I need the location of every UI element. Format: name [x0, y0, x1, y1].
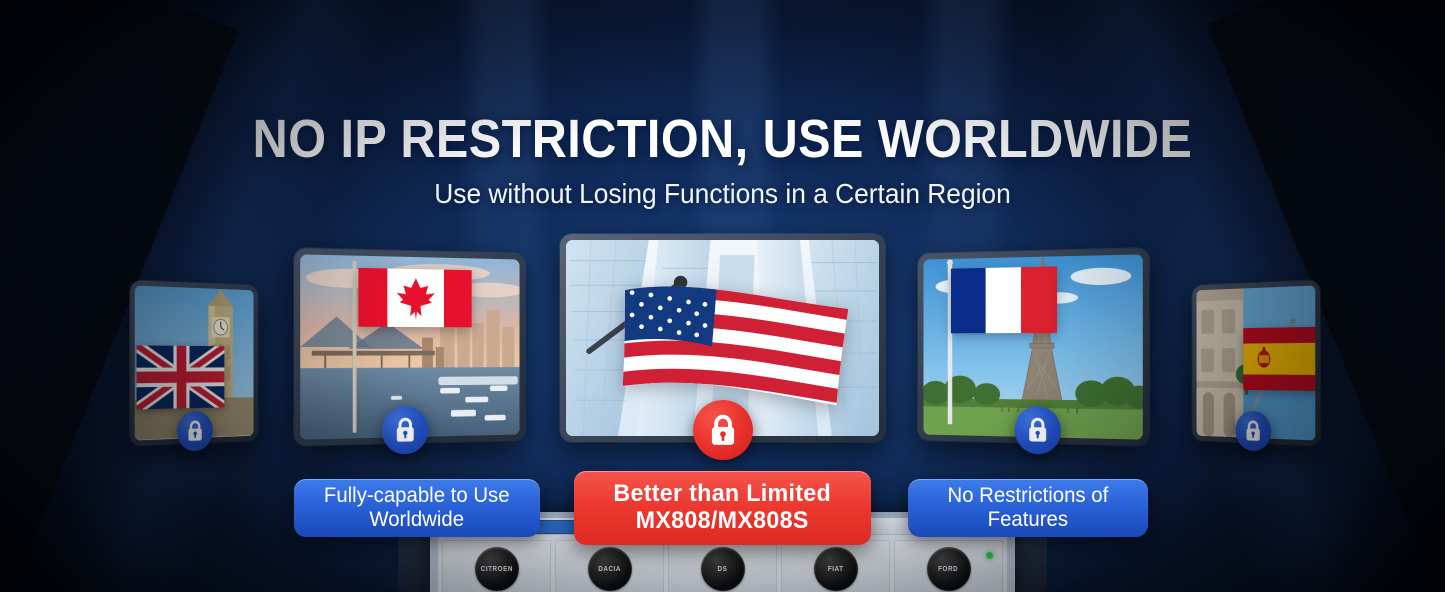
lock-icon — [1244, 420, 1262, 443]
flag-card-canada[interactable] — [294, 248, 525, 446]
brand-logo-ford: FORD — [927, 547, 971, 591]
flag-spain — [1243, 327, 1315, 392]
badge-line-1: Fully-capable to Use — [324, 484, 510, 508]
lock-icon — [1026, 417, 1049, 444]
flag-france — [951, 266, 1057, 333]
badge-line-2: Worldwide — [324, 508, 510, 532]
lock-badge-spain[interactable] — [1235, 411, 1271, 452]
badge-no-restrictions[interactable]: No Restrictions of Features — [908, 479, 1148, 537]
flag-united-states — [618, 278, 853, 420]
brand-tile[interactable]: FORD — [894, 540, 1003, 592]
flag-united-kingdom — [137, 345, 225, 409]
lock-badge-canada[interactable] — [382, 406, 428, 455]
brand-tile[interactable]: FIAT — [781, 540, 890, 592]
flag-card-spain[interactable] — [1192, 280, 1320, 446]
lock-icon — [186, 420, 204, 443]
lock-icon — [394, 417, 417, 444]
brand-tile[interactable]: DACIA — [555, 540, 664, 592]
lock-icon — [708, 414, 738, 447]
badge-better-than-limited[interactable]: Better than Limited MX808/MX808S — [574, 471, 871, 545]
brand-logo-ds: DS — [701, 547, 745, 591]
page-subtitle: Use without Losing Functions in a Certai… — [43, 178, 1401, 210]
lock-badge-usa[interactable] — [693, 400, 753, 460]
badge-fully-capable[interactable]: Fully-capable to Use Worldwide — [294, 479, 540, 537]
badge-line-1: Better than Limited — [614, 481, 832, 508]
brand-label: DACIA — [598, 566, 621, 573]
brand-logo-dacia: DACIA — [588, 547, 632, 591]
flag-card-france[interactable] — [918, 248, 1149, 446]
banner-stage: CITROEN DACIA DS FIAT — [0, 0, 1445, 592]
brand-label: FIAT — [828, 566, 844, 573]
brand-logo-citroen: CITROEN — [475, 547, 519, 591]
badge-line-2: MX808/MX808S — [614, 508, 832, 535]
brand-tile[interactable]: CITROEN — [442, 540, 551, 592]
flag-card-usa[interactable] — [560, 234, 885, 442]
page-title: NO IP RESTRICTION, USE WORLDWIDE — [72, 108, 1373, 170]
brand-label: DS — [718, 566, 728, 573]
lock-badge-france[interactable] — [1015, 406, 1061, 455]
brand-label: FORD — [938, 566, 958, 573]
badge-line-1: No Restrictions of — [948, 484, 1109, 508]
flag-canada — [358, 268, 471, 327]
lock-badge-uk[interactable] — [177, 411, 213, 452]
badge-line-2: Features — [948, 508, 1109, 532]
brand-label: CITROEN — [480, 566, 512, 573]
power-led-icon — [986, 552, 993, 559]
brand-tile[interactable]: DS — [668, 540, 777, 592]
flag-card-uk[interactable] — [130, 280, 258, 446]
brand-logo-fiat: FIAT — [814, 547, 858, 591]
